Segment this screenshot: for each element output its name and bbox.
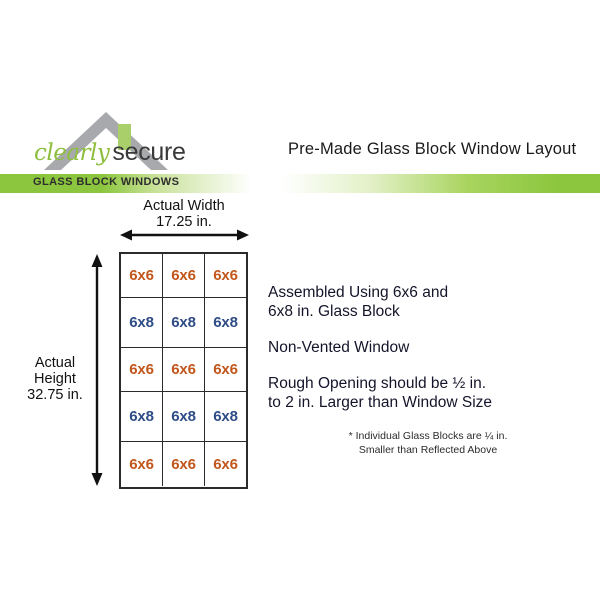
grid-cell: 6x8 [205,298,246,347]
footnote-line-1: * Individual Glass Blocks are ¼ in. [268,429,588,443]
rough-opening-line-1: Rough Opening should be ½ in. [268,374,588,393]
layout-diagram-page: clearlysecure GLASS BLOCK WINDOWS Pre-Ma… [0,0,600,600]
grid-cell: 6x6 [121,442,163,486]
grid-cell: 6x6 [163,254,205,297]
actual-height-caption-1: Actual [18,355,92,371]
venting-spec-line-1: Non-Vented Window [268,338,588,357]
height-dimension-arrow [89,254,105,486]
glass-block-grid: 6x6 6x6 6x6 6x8 6x8 6x8 6x6 6x6 6x6 6x8 … [119,252,248,489]
grid-cell: 6x8 [205,392,246,441]
brand-tagline: GLASS BLOCK WINDOWS [33,176,179,188]
logo-word-secure: secure [112,138,185,166]
grid-cell: 6x8 [163,392,205,441]
actual-height-label: Actual Height 32.75 in. [18,355,92,403]
grid-row: 6x8 6x8 6x8 [121,392,246,442]
grid-row: 6x6 6x6 6x6 [121,348,246,392]
grid-cell: 6x6 [205,348,246,391]
grid-cell: 6x6 [121,348,163,391]
grid-cell: 6x6 [205,442,246,486]
grid-cell: 6x6 [205,254,246,297]
grid-cell: 6x8 [121,392,163,441]
venting-spec: Non-Vented Window [268,338,588,357]
logo-word-clearly: clearly [34,140,109,166]
footnote: * Individual Glass Blocks are ¼ in. Smal… [268,429,588,457]
grid-row: 6x8 6x8 6x8 [121,298,246,348]
grid-cell: 6x8 [121,298,163,347]
assembly-spec: Assembled Using 6x6 and 6x8 in. Glass Bl… [268,283,588,321]
actual-height-value: 32.75 in. [18,387,92,403]
rough-opening-spec: Rough Opening should be ½ in. to 2 in. L… [268,374,588,412]
actual-width-label: Actual Width 17.25 in. [119,198,249,230]
actual-width-caption: Actual Width [119,198,249,214]
logo-wordmark: clearlysecure [34,138,194,168]
actual-height-caption-2: Height [18,371,92,387]
footnote-line-2: Smaller than Reflected Above [268,443,588,457]
grid-row: 6x6 6x6 6x6 [121,254,246,298]
page-title: Pre-Made Glass Block Window Layout [288,140,576,159]
assembly-spec-line-2: 6x8 in. Glass Block [268,302,588,321]
specification-text: Assembled Using 6x6 and 6x8 in. Glass Bl… [268,283,588,412]
width-dimension-arrow [120,228,249,242]
brand-logo: clearlysecure [18,108,188,174]
grid-cell: 6x8 [163,298,205,347]
rough-opening-line-2: to 2 in. Larger than Window Size [268,393,588,412]
grid-cell: 6x6 [163,442,205,486]
grid-row: 6x6 6x6 6x6 [121,442,246,486]
grid-cell: 6x6 [163,348,205,391]
grid-cell: 6x6 [121,254,163,297]
assembly-spec-line-1: Assembled Using 6x6 and [268,283,588,302]
